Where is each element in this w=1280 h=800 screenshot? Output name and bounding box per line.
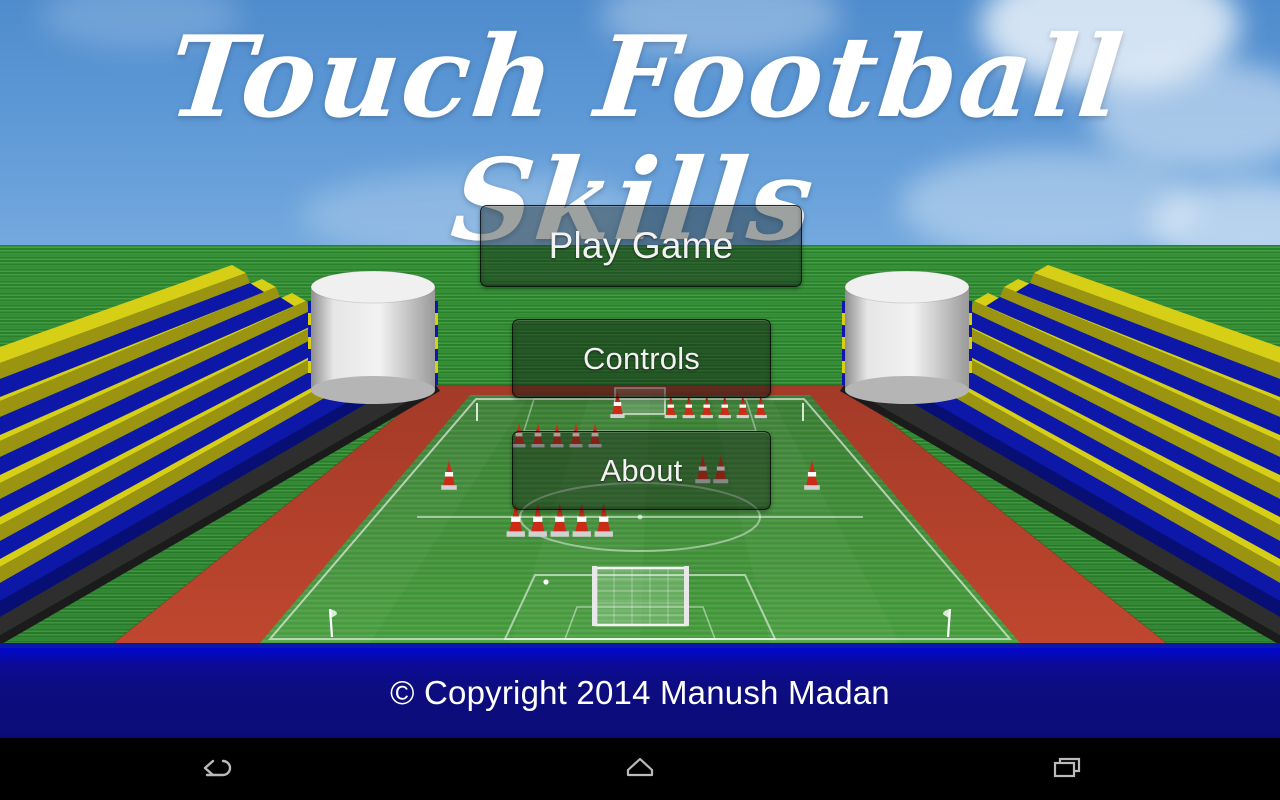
home-button[interactable] [427, 738, 854, 800]
recents-button[interactable] [853, 738, 1280, 800]
play-game-button-label: Play Game [549, 225, 734, 267]
about-button-label: About [600, 453, 682, 489]
home-icon [620, 753, 660, 786]
game-main-menu-screen: Touch Football Skills Play Game Controls… [0, 0, 1280, 800]
play-game-button[interactable]: Play Game [480, 205, 802, 287]
about-button[interactable]: About [512, 431, 771, 510]
floodlight-tower-left [311, 271, 435, 404]
android-navigation-bar [0, 738, 1280, 800]
copyright-text: © Copyright 2014 Manush Madan [390, 674, 890, 712]
floodlight-tower-right [845, 271, 969, 404]
back-button[interactable] [0, 738, 427, 800]
copyright-bar: © Copyright 2014 Manush Madan [0, 648, 1280, 738]
controls-button-label: Controls [583, 341, 700, 377]
recents-icon [1047, 753, 1087, 786]
back-icon [193, 753, 233, 786]
controls-button[interactable]: Controls [512, 319, 771, 398]
